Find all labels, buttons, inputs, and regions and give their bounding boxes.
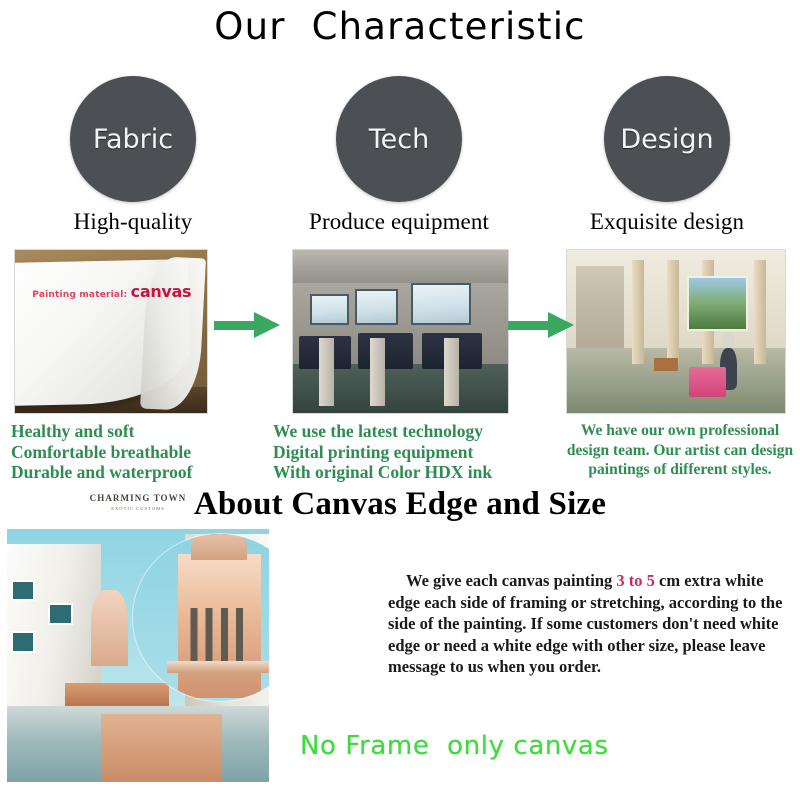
- factory-window: [411, 283, 471, 325]
- no-frame-note: No Frame only canvas: [300, 731, 609, 761]
- printing-machine: [358, 333, 414, 369]
- belfry-ledge: [167, 661, 269, 673]
- section-title-canvas-edge: About Canvas Edge and Size: [0, 484, 800, 524]
- studio-illustration: [567, 250, 785, 413]
- photo-canvas-material: Painting material: canvas: [14, 249, 208, 414]
- studio-pillar: [754, 260, 766, 364]
- description-design: We have our own professional design team…: [560, 421, 800, 480]
- edge-copy-part1: We give each canvas painting: [406, 571, 616, 590]
- building-window: [48, 603, 72, 625]
- distant-bell-tower: [91, 590, 128, 666]
- canvas-label-prefix: Painting material:: [32, 290, 130, 300]
- badge-label: Design: [620, 124, 713, 155]
- arrow-head: [254, 312, 280, 338]
- building-window: [11, 631, 35, 653]
- feature-column-tech: Tech Produce equipment: [266, 76, 532, 246]
- canvas-sheet-illustration: Painting material: canvas: [15, 250, 207, 413]
- studio-pillar: [667, 260, 679, 364]
- page-title: Our Characteristic: [0, 4, 800, 50]
- building-window: [11, 580, 35, 602]
- factory-column: [319, 338, 334, 406]
- canvas-label-emphasis: canvas: [131, 282, 192, 301]
- arrow-shaft: [214, 321, 258, 330]
- supply-cart: [689, 367, 726, 396]
- factory-illustration: [293, 250, 508, 413]
- feature-caption-design: Exquisite design: [534, 209, 800, 235]
- feature-caption-fabric: High-quality: [0, 209, 266, 235]
- edge-size-body-text: We give each canvas painting 3 to 5 cm e…: [388, 570, 788, 678]
- arrow-head: [548, 312, 574, 338]
- feature-photo-row: Painting material: canvas: [0, 249, 800, 417]
- factory-column: [444, 338, 459, 406]
- landscape-painting: [687, 276, 748, 331]
- badge-label: Fabric: [93, 124, 173, 155]
- arrow-right-icon: [214, 312, 282, 338]
- description-fabric: Healthy and soft Comfortable breathable …: [11, 421, 273, 483]
- studio-corridor: [576, 266, 624, 351]
- feature-caption-tech: Produce equipment: [266, 209, 532, 235]
- photo-printing-factory: [292, 249, 509, 414]
- badge-circle-tech: Tech: [336, 76, 462, 202]
- rooftop: [65, 683, 170, 706]
- canvas-material-label: Painting material: canvas: [32, 284, 191, 300]
- factory-column: [370, 338, 385, 406]
- edge-size-highlight: 3 to 5: [616, 571, 655, 590]
- arrow-right-icon: [508, 312, 576, 338]
- low-wall: [101, 714, 222, 782]
- photo-canvas-edge-sample: [7, 529, 269, 782]
- feature-column-fabric: Fabric High-quality: [0, 76, 266, 246]
- badge-circle-design: Design: [604, 76, 730, 202]
- studio-pillar: [632, 260, 644, 364]
- factory-window: [355, 289, 398, 325]
- studio-stool: [654, 358, 678, 371]
- arrow-shaft: [508, 321, 552, 330]
- badge-circle-fabric: Fabric: [70, 76, 196, 202]
- feature-badge-row: Fabric High-quality Tech Produce equipme…: [0, 76, 800, 246]
- factory-ceiling: [293, 250, 508, 286]
- factory-window: [310, 294, 349, 325]
- feature-column-design: Design Exquisite design: [534, 76, 800, 246]
- photo-design-studio: [566, 249, 786, 414]
- belfry-arches: [185, 608, 254, 665]
- description-tech: We use the latest technology Digital pri…: [273, 421, 535, 483]
- badge-label: Tech: [369, 124, 429, 155]
